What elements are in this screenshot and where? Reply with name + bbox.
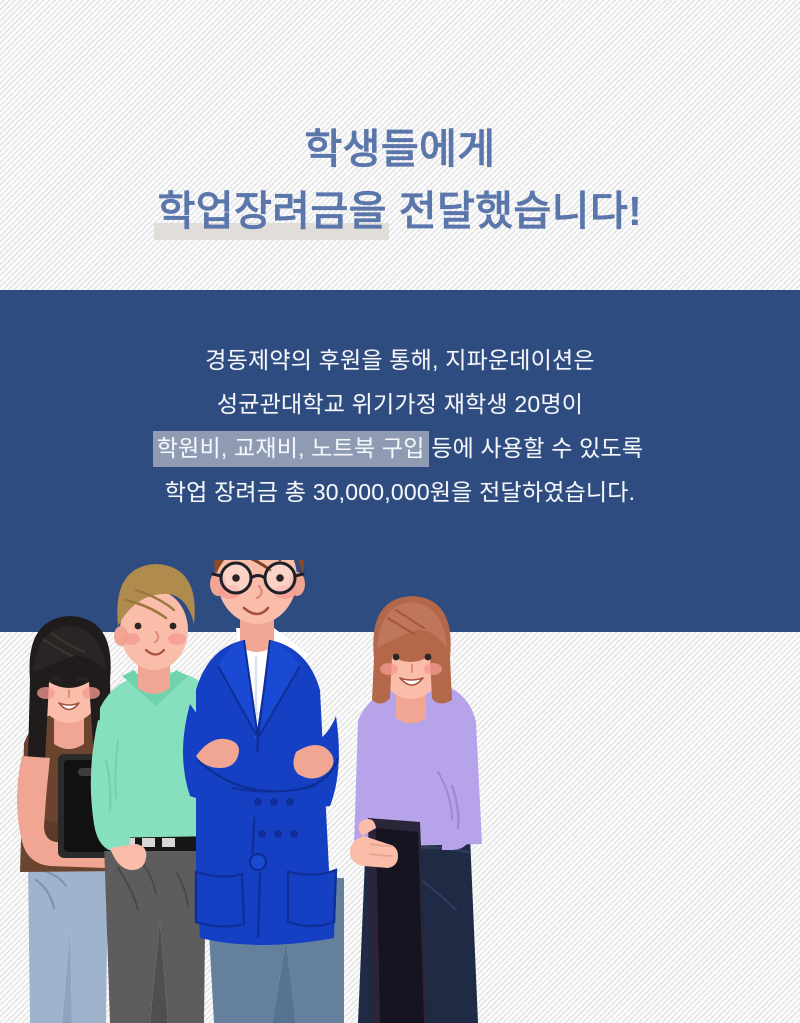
heading-line-2-rest: 전달했습니다!	[387, 188, 642, 234]
panel-line-2: 성균관대학교 위기가정 재학생 20명이	[0, 382, 800, 426]
page-title: 학생들에게 학업장려금을 전달했습니다!	[0, 118, 800, 242]
figure-woman-lavender-sweater	[350, 596, 482, 1023]
heading-line-1: 학생들에게	[0, 118, 800, 180]
panel-line-3-rest: 등에 사용할 수 있도록	[425, 435, 644, 461]
panel-line-4: 학업 장려금 총 30,000,000원을 전달하였습니다.	[0, 470, 800, 514]
poster-canvas: 학생들에게 학업장려금을 전달했습니다! 경동제약의 후원을 통해, 지파운데이…	[0, 0, 800, 1023]
heading-highlight-text: 학업장려금을	[158, 180, 387, 242]
panel-text-block: 경동제약의 후원을 통해, 지파운데이션은 성균관대학교 위기가정 재학생 20…	[0, 338, 800, 514]
heading-line-2: 학업장려금을 전달했습니다!	[0, 180, 800, 242]
panel-line-3: 학원비, 교재비, 노트북 구입 등에 사용할 수 있도록	[0, 426, 800, 470]
panel-line-1: 경동제약의 후원을 통해, 지파운데이션은	[0, 338, 800, 382]
heading-line-1-text: 학생들에게	[304, 126, 495, 172]
panel-highlight-text: 학원비, 교재비, 노트북 구입	[157, 426, 425, 470]
figure-man-blue-suit	[183, 560, 344, 1023]
four-students-group-illustration	[0, 560, 800, 1023]
